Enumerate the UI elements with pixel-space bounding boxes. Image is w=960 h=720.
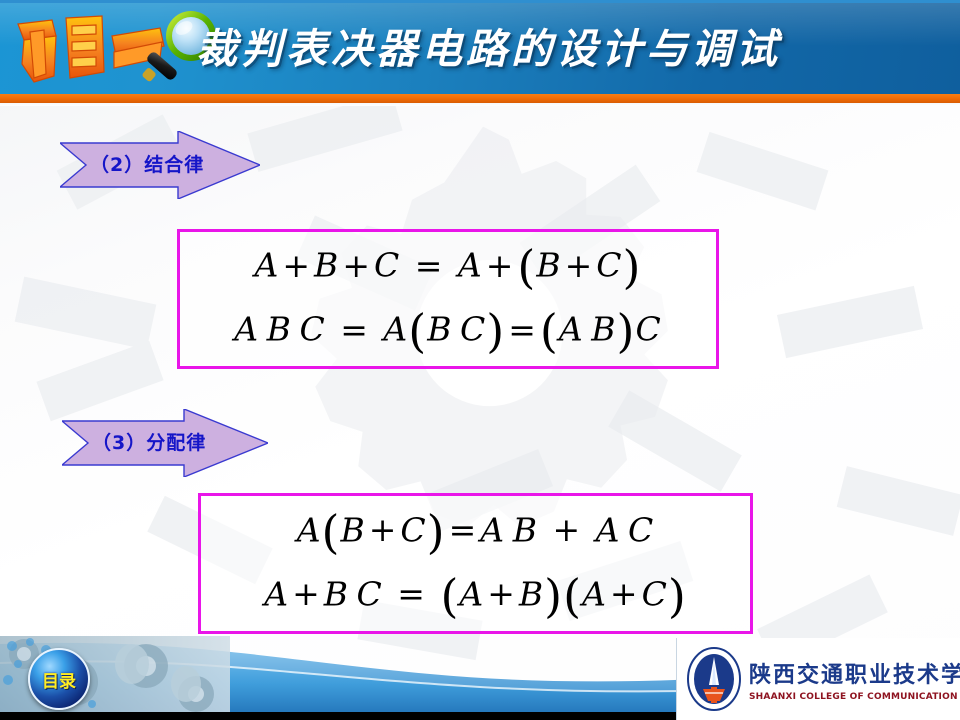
formula-line: A B C = A(B C)=(A B)C	[180, 299, 716, 363]
slide-footer: 目录 陕西交通职业技术学院 SHAANXI COLLEGE OF COMMUNI…	[0, 636, 960, 720]
college-emblem-icon	[685, 645, 743, 713]
college-logo-text: 陕西交通职业技术学院 SHAANXI COLLEGE OF COMMUNICAT…	[749, 657, 960, 702]
header-orange-rule	[0, 94, 960, 103]
college-name-cn: 陕西交通职业技术学院	[749, 657, 960, 689]
header-orange-rule-shadow	[0, 103, 960, 106]
table-of-contents-button[interactable]: 目录	[28, 648, 90, 710]
formula-box-distributive: A(B+C)=A B + A C A+B C = (A+B)(A+C)	[198, 493, 753, 634]
formula-box-associative: A+B+C = A+(B+C) A B C = A(B C)=(A B)C	[177, 229, 719, 369]
formula-line: A+B C = (A+B)(A+C)	[201, 564, 750, 628]
section-arrow-associative[interactable]: （2）结合律	[60, 131, 260, 199]
toc-button-label: 目录	[42, 667, 76, 692]
college-logo: 陕西交通职业技术学院 SHAANXI COLLEGE OF COMMUNICAT…	[676, 638, 960, 720]
slide-header: 裁判表决器电路的设计与调试	[0, 0, 960, 94]
section-arrow-label: （2）结合律	[90, 131, 204, 199]
formula-line: A(B+C)=A B + A C	[201, 500, 750, 564]
section-arrow-distributive[interactable]: （3）分配律	[62, 409, 268, 477]
header-top-rule	[0, 0, 960, 3]
section-arrow-label: （3）分配律	[92, 409, 206, 477]
formula-line: A+B+C = A+(B+C)	[180, 235, 716, 299]
college-name-en: SHAANXI COLLEGE OF COMMUNICATION TECHNOL…	[749, 692, 960, 702]
slide-canvas: 裁判表决器电路的设计与调试 （2）结合律 A+B+C = A+(B+C) A B…	[0, 0, 960, 720]
page-title: 裁判表决器电路的设计与调试	[196, 18, 952, 80]
